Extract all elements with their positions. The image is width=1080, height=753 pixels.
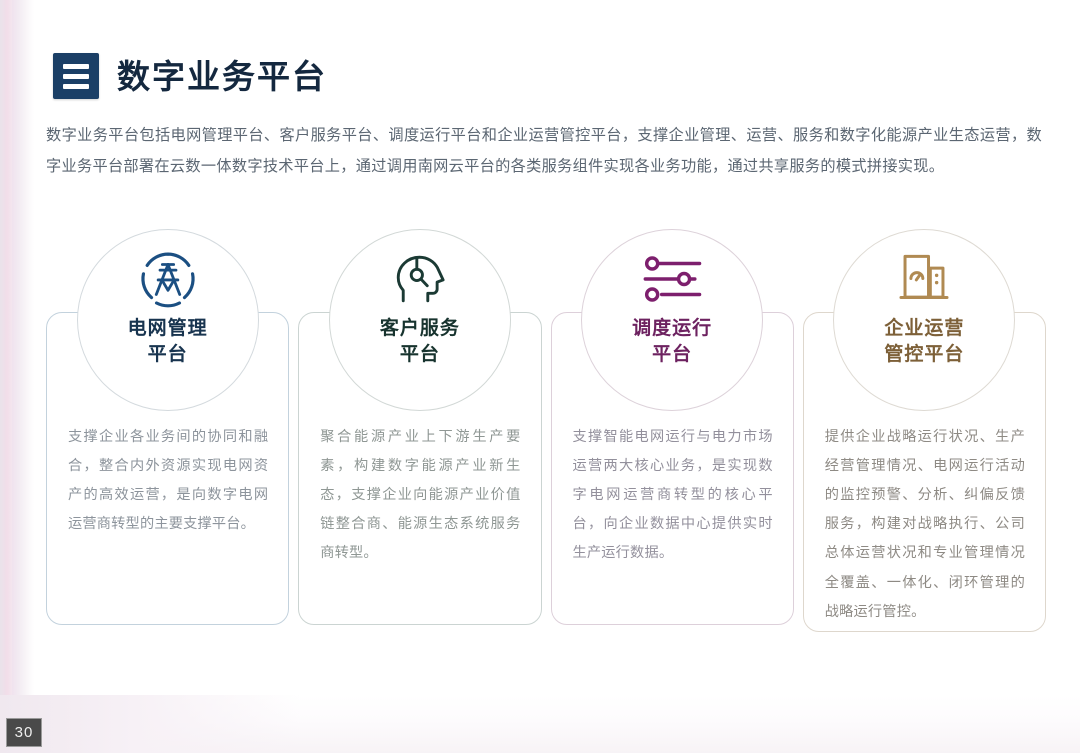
card-title-4-line1: 企业运营 [884,318,964,339]
card-body-4: 提供企业战略运行状况、生产经营管理情况、电网运行活动的监控预警、分析、纠偏反馈服… [825,423,1025,627]
card-title-4: 企业运营 管控平台 [884,316,964,367]
card-circle-2: 客户服务 平台 [329,229,511,411]
bottom-edge-gradient [0,695,1080,753]
page-title: 数字业务平台 [117,60,327,93]
card-circle-3: 调度运行 平台 [581,229,763,411]
platform-card-row: 电网管理 平台 支撑企业各业务间的协同和融合，整合内外资源实现电网资产的高效运营… [46,312,1046,642]
bottom-left-edge-gradient [0,695,300,753]
card-title-3: 调度运行 平台 [632,316,712,367]
card-title-2: 客户服务 平台 [380,316,460,367]
head-profile-search-icon [391,248,449,310]
menu-bar-3 [63,84,89,89]
platform-card-enterprise-operation[interactable]: 企业运营 管控平台 提供企业战略运行状况、生产经营管理情况、电网运行活动的监控预… [803,312,1046,632]
left-edge-gradient [0,0,34,753]
slide-page: 数字业务平台 数字业务平台包括电网管理平台、客户服务平台、调度运行平台和企业运营… [0,0,1080,753]
power-tower-icon [138,248,198,310]
card-title-3-line1: 调度运行 [632,318,712,339]
card-body-2: 聚合能源产业上下游生产要素，构建数字能源产业新生态，支撑企业向能源产业价值链整合… [320,423,520,569]
platform-card-grid-management[interactable]: 电网管理 平台 支撑企业各业务间的协同和融合，整合内外资源实现电网资产的高效运营… [46,312,289,625]
card-body-3: 支撑智能电网运行与电力市场运营两大核心业务，是实现数字电网运营商转型的核心平台，… [573,423,773,569]
card-body-1: 支撑企业各业务间的协同和融合，整合内外资源实现电网资产的高效运营，是向数字电网运… [68,423,268,539]
card-title-3-line2: 平台 [652,344,692,365]
building-gauge-icon [895,248,953,310]
sliders-icon [641,248,703,310]
menu-bar-1 [63,64,89,69]
menu-bar-2 [63,74,89,79]
list-menu-icon [53,53,99,99]
card-title-1-line1: 电网管理 [128,318,208,339]
card-title-1: 电网管理 平台 [128,316,208,367]
left-edge-inner-gradient [0,0,12,753]
intro-paragraph: 数字业务平台包括电网管理平台、客户服务平台、调度运行平台和企业运营管控平台，支撑… [46,120,1042,182]
platform-card-dispatch-operation[interactable]: 调度运行 平台 支撑智能电网运行与电力市场运营两大核心业务，是实现数字电网运营商… [551,312,794,625]
page-number-badge: 30 [6,718,42,747]
platform-card-customer-service[interactable]: 客户服务 平台 聚合能源产业上下游生产要素，构建数字能源产业新生态，支撑企业向能… [298,312,541,625]
card-title-1-line2: 平台 [148,344,188,365]
card-title-2-line1: 客户服务 [380,318,460,339]
card-circle-4: 企业运营 管控平台 [833,229,1015,411]
card-title-2-line2: 平台 [400,344,440,365]
card-title-4-line2: 管控平台 [884,344,964,365]
card-circle-1: 电网管理 平台 [77,229,259,411]
page-header: 数字业务平台 [53,53,327,99]
